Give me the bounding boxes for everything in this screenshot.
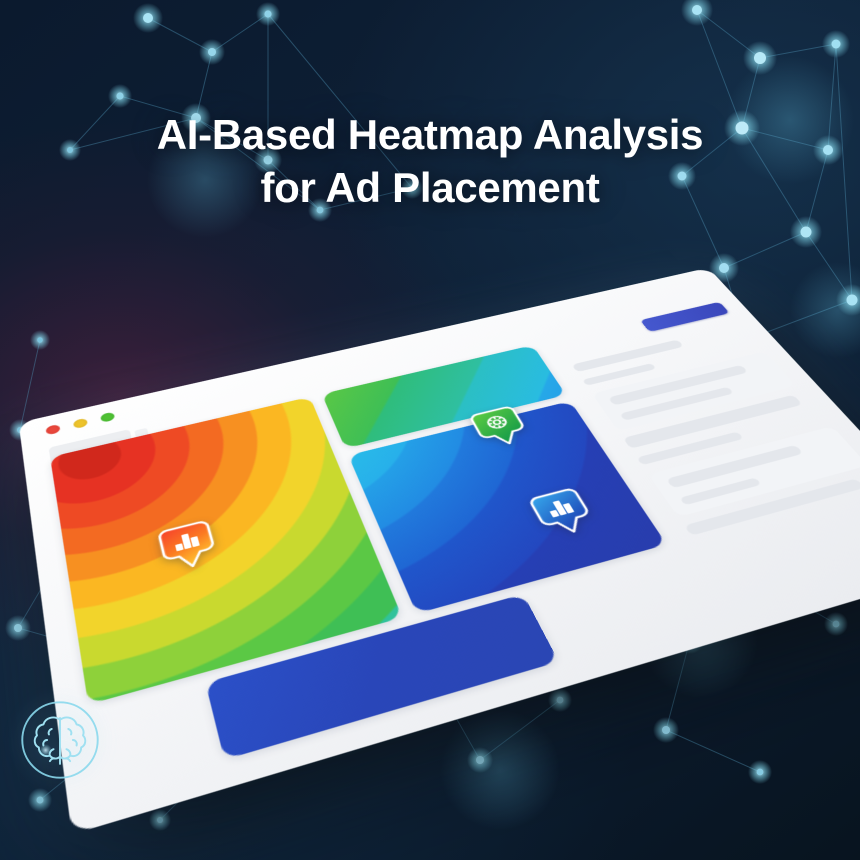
- skeleton-bar: [572, 340, 684, 373]
- window-body: [22, 290, 860, 835]
- sidebar-card[interactable]: [648, 426, 860, 517]
- maximize-window-button[interactable]: [100, 412, 115, 423]
- traffic-lights: [45, 412, 115, 436]
- brain-in-circle-icon: [14, 694, 106, 786]
- page-title: AI-Based Heatmap Analysis for Ad Placeme…: [0, 108, 860, 215]
- poster-canvas: AI-Based Heatmap Analysis for Ad Placeme…: [0, 0, 860, 860]
- browser-window: [19, 268, 860, 835]
- sidebar-primary-button[interactable]: [640, 302, 730, 332]
- minimize-window-button[interactable]: [73, 418, 88, 429]
- close-window-button[interactable]: [45, 424, 60, 435]
